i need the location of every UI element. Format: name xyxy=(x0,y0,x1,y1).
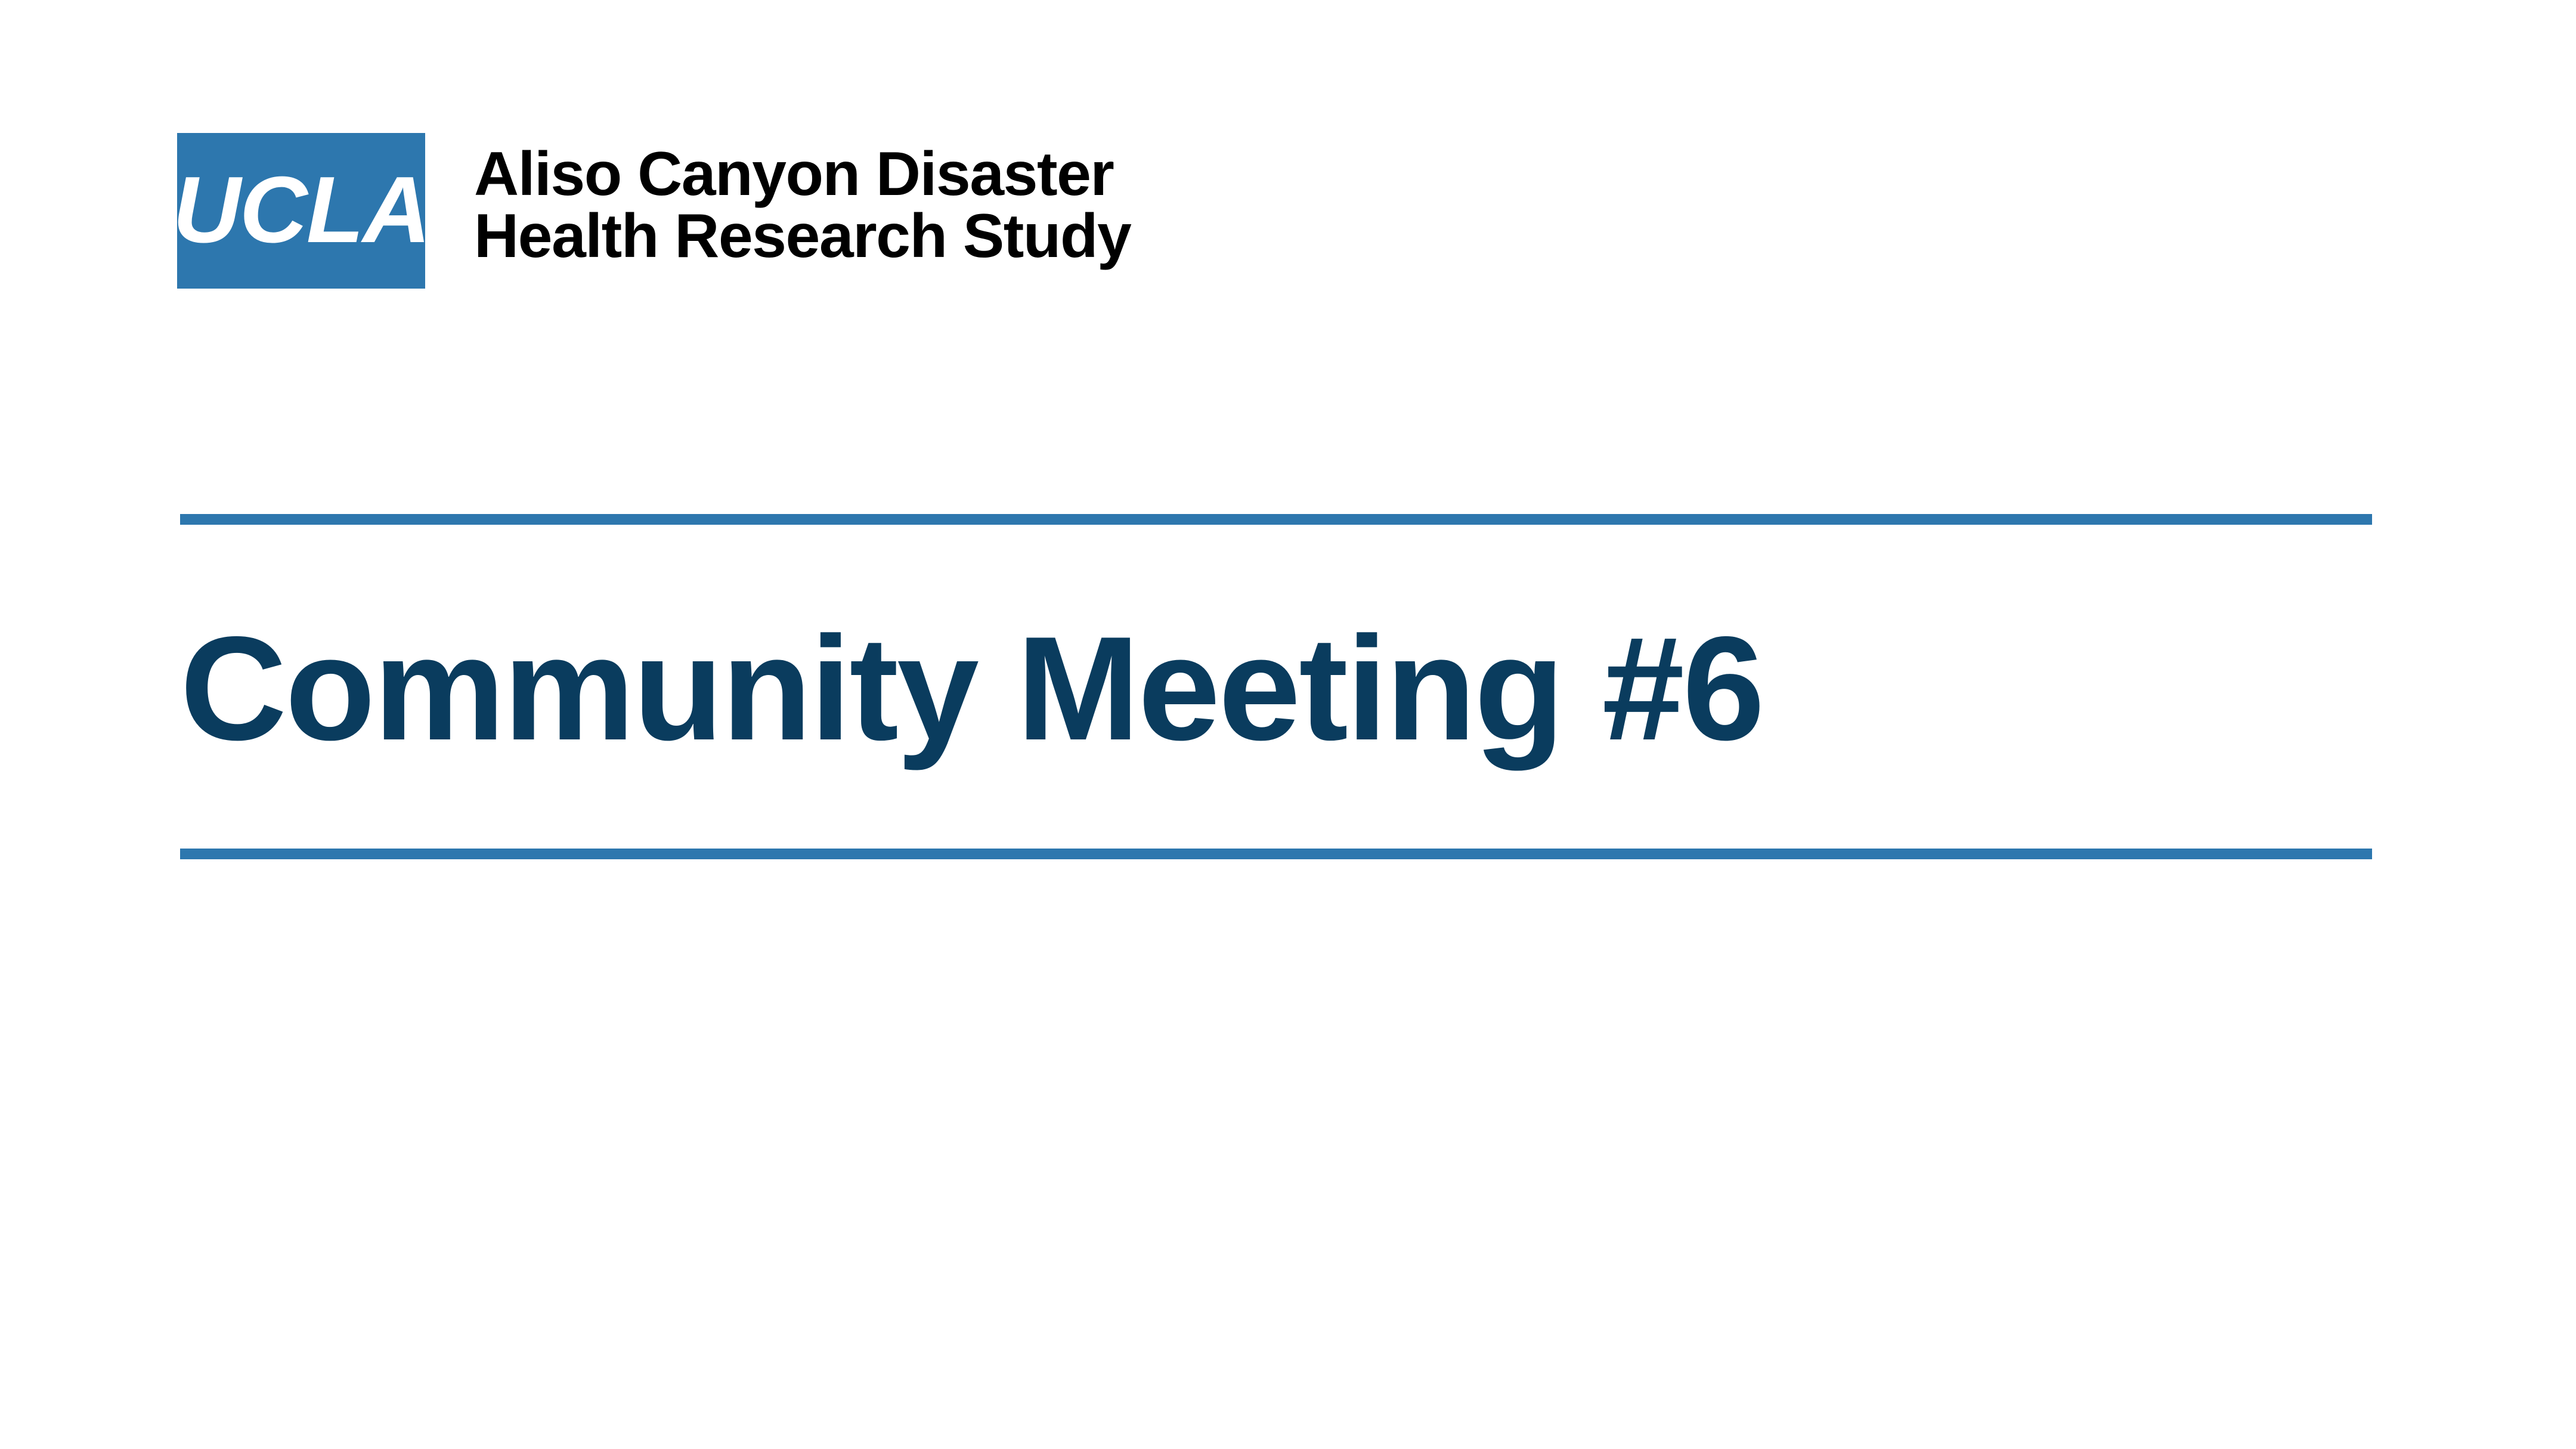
bottom-divider xyxy=(180,849,2372,859)
ucla-logo-icon: UCLA xyxy=(177,133,425,289)
brand-lockup: UCLA Aliso Canyon Disaster Health Resear… xyxy=(177,133,1131,289)
study-name: Aliso Canyon Disaster Health Research St… xyxy=(474,133,1131,267)
page-title: Community Meeting #6 xyxy=(180,614,2372,762)
content-area xyxy=(180,894,2372,1371)
ucla-wordmark: UCLA xyxy=(173,163,430,257)
slide-canvas: UCLA Aliso Canyon Disaster Health Resear… xyxy=(0,0,2576,1449)
study-name-line-2: Health Research Study xyxy=(474,205,1131,267)
study-name-line-1: Aliso Canyon Disaster xyxy=(474,143,1131,205)
top-divider xyxy=(180,514,2372,525)
